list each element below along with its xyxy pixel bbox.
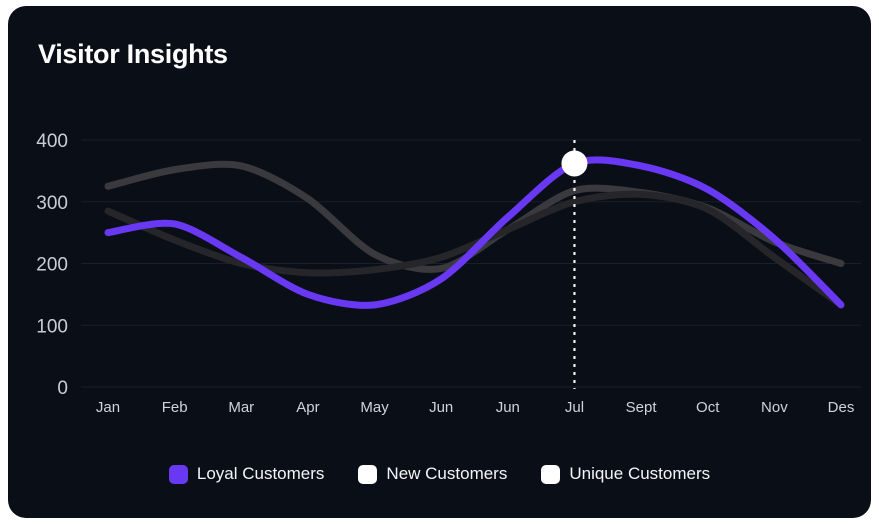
x-axis-tick-labels: JanFebMarAprMayJunJunJulSeptOctNovDes: [96, 399, 854, 416]
legend-item-label: Unique Customers: [569, 464, 710, 484]
legend-item[interactable]: New Customers: [358, 464, 507, 484]
visitor-insights-card: Visitor Insights 0100200300400JanFebMarA…: [8, 6, 871, 518]
x-tick-label: Feb: [162, 399, 188, 416]
x-tick-label: Sept: [626, 399, 658, 416]
chart-legend: Loyal CustomersNew CustomersUnique Custo…: [8, 464, 871, 484]
screenshot-root: Visitor Insights 0100200300400JanFebMarA…: [0, 0, 879, 524]
y-axis-tick-labels: 0100200300400: [36, 131, 68, 399]
chart-plot-area: 0100200300400JanFebMarAprMayJunJunJulSep…: [8, 6, 871, 518]
legend-item[interactable]: Unique Customers: [541, 464, 710, 484]
y-tick-label: 200: [36, 255, 68, 276]
legend-swatch-new: [358, 465, 377, 484]
x-tick-label: Mar: [228, 399, 254, 416]
legend-item-label: New Customers: [386, 464, 507, 484]
y-tick-label: 0: [57, 378, 68, 399]
x-tick-label: May: [360, 399, 389, 416]
x-tick-label: Oct: [696, 399, 720, 416]
x-tick-label: Des: [828, 399, 855, 416]
x-tick-label: Jul: [565, 399, 584, 416]
gridlines: [81, 140, 861, 387]
legend-swatch-loyal: [169, 465, 188, 484]
x-tick-label: Jun: [496, 399, 520, 416]
x-tick-label: Jun: [429, 399, 453, 416]
legend-item-label: Loyal Customers: [197, 464, 325, 484]
legend-item[interactable]: Loyal Customers: [169, 464, 325, 484]
active-data-point-marker[interactable]: [561, 150, 587, 176]
x-tick-label: Apr: [296, 399, 319, 416]
legend-swatch-unique: [541, 465, 560, 484]
y-tick-label: 300: [36, 193, 68, 214]
series-group: [108, 160, 841, 305]
y-tick-label: 400: [36, 131, 68, 152]
x-tick-label: Nov: [761, 399, 788, 416]
line-chart-svg[interactable]: 0100200300400JanFebMarAprMayJunJunJulSep…: [8, 6, 871, 466]
x-tick-label: Jan: [96, 399, 120, 416]
series-line-loyal-customers[interactable]: [108, 160, 841, 305]
y-tick-label: 100: [36, 316, 68, 337]
